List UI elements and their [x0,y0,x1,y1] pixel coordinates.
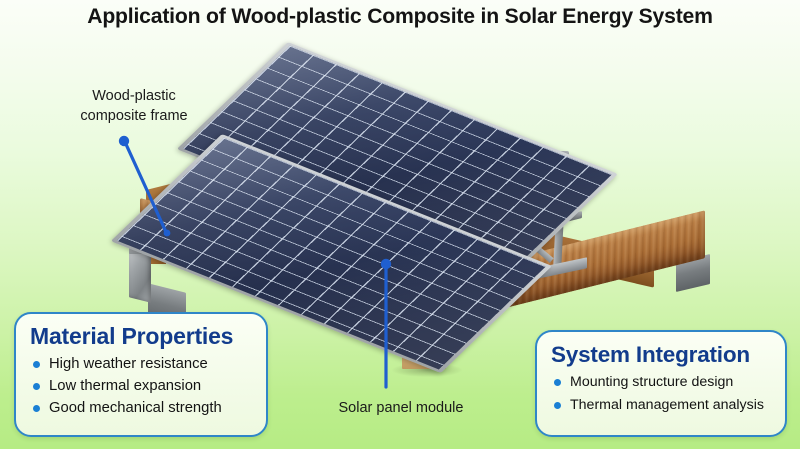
bullet-icon [554,379,561,386]
list-item-label: Mounting structure design [570,374,733,390]
list-item: Low thermal expansion [30,375,254,397]
bullet-icon [554,402,561,409]
page-title: Application of Wood-plastic Composite in… [6,4,794,29]
callout-right-heading: System Integration [551,341,773,368]
callout-material-properties: Material Properties High weather resista… [14,312,268,437]
list-item: Thermal management analysis [551,394,773,417]
list-item: High weather resistance [30,353,254,375]
bullet-icon [33,361,40,368]
bullet-icon [33,383,40,390]
list-item-label: Low thermal expansion [49,378,201,394]
list-item-label: High weather resistance [49,356,208,372]
annotation-wood-plastic-composite-frame: Wood-plastic composite frame [54,86,214,126]
list-item: Mounting structure design [551,371,773,394]
list-item-label: Good mechanical strength [49,400,222,416]
callout-system-integration: System Integration Mounting structure de… [535,330,787,437]
list-item: Good mechanical strength [30,397,254,419]
bullet-icon [33,405,40,412]
annotation-frame-line1: Wood-plastic [54,86,214,106]
list-item-label: Thermal management analysis [570,397,764,413]
infographic-canvas: Application of Wood-plastic Composite in… [0,0,800,449]
annotation-solar-panel-module: Solar panel module [306,398,496,418]
callout-right-list: Mounting structure design Thermal manage… [551,371,773,417]
callout-left-list: High weather resistance Low thermal expa… [30,353,254,419]
callout-left-heading: Material Properties [30,323,254,350]
annotation-frame-line2: composite frame [54,106,214,126]
